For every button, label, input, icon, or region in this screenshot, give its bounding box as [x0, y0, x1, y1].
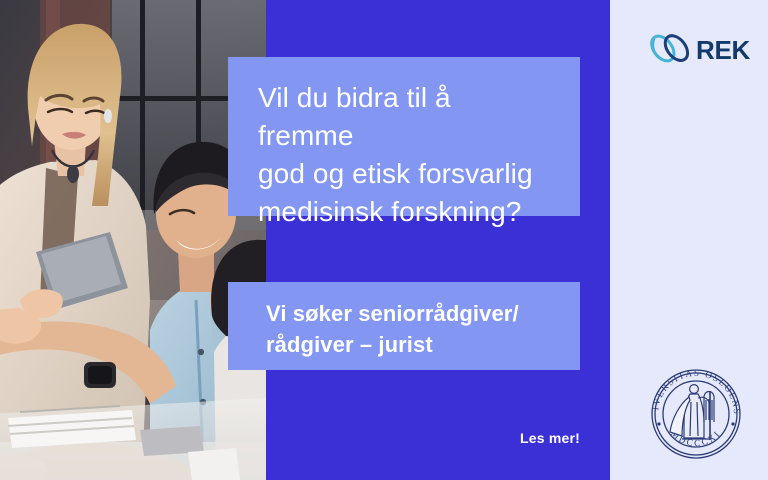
- rek-mark-icon: [648, 26, 692, 75]
- rek-wordmark: REK: [696, 37, 750, 63]
- recruitment-banner: Vil du bidra til å fremme god og etisk f…: [0, 0, 768, 480]
- role-title-text: Vi søker seniorrådgiver/ rådgiver – juri…: [266, 298, 556, 360]
- headline-card: Vil du bidra til å fremme god og etisk f…: [228, 57, 580, 216]
- uio-seal: UNIVERSITAS OSLOENSIS MDCCCXI: [644, 362, 748, 466]
- rek-logo[interactable]: REK: [648, 26, 748, 74]
- team-photo: [0, 0, 266, 480]
- headline-text: Vil du bidra til å fremme god og etisk f…: [258, 79, 554, 231]
- read-more-link[interactable]: Les mer!: [380, 430, 580, 446]
- role-card: Vi søker seniorrådgiver/ rådgiver – juri…: [228, 282, 580, 370]
